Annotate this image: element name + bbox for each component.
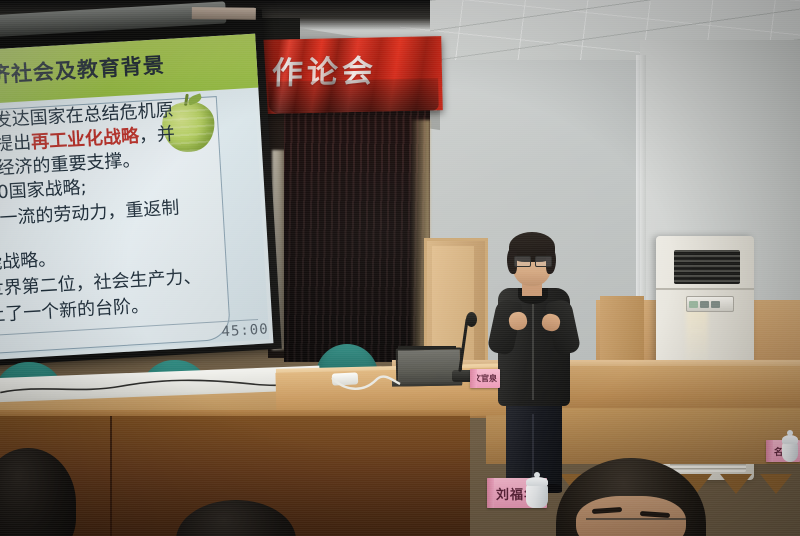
projection-screen: 经济社会及教育背景 后，发达国家在总结危机原 纷纷提出再工业化战略，并 重振经济… [0, 9, 282, 367]
air-conditioner-control-panel[interactable] [686, 296, 734, 312]
screen-support-rod [192, 7, 256, 20]
slide-timer: 45:00 [221, 321, 269, 340]
red-banner: 作论会 [263, 36, 443, 114]
photo-scene: 作论会 经济社会及教育背景 后，发达国家在总结危机原 纷纷提出再工业化战略，并 … [0, 0, 800, 536]
teacup-center[interactable] [526, 484, 548, 508]
ac-mode-icon [711, 301, 720, 308]
microphone-icon[interactable] [466, 312, 477, 327]
name-card-behind-speaker: 文官泉 [470, 369, 500, 388]
speaker-jacket-zipper [532, 296, 534, 400]
blackout-curtain [284, 100, 430, 362]
audience-glasses-icon [586, 518, 686, 536]
glasses-icon [514, 256, 550, 265]
adapter-cable [330, 368, 410, 394]
ac-indicator-icon [700, 301, 709, 308]
air-conditioner-top-vent-icon [674, 250, 740, 284]
banner-fabric-folds [263, 36, 443, 114]
projected-slide: 经济社会及教育背景 后，发达国家在总结危机原 纷纷提出再工业化战略，并 重振经济… [0, 34, 273, 361]
ac-display-icon [689, 301, 698, 308]
air-conditioner-seam [656, 288, 754, 290]
laptop-hinge [398, 346, 456, 349]
teacup-right[interactable] [782, 442, 798, 462]
front-desk-seam [110, 416, 112, 536]
